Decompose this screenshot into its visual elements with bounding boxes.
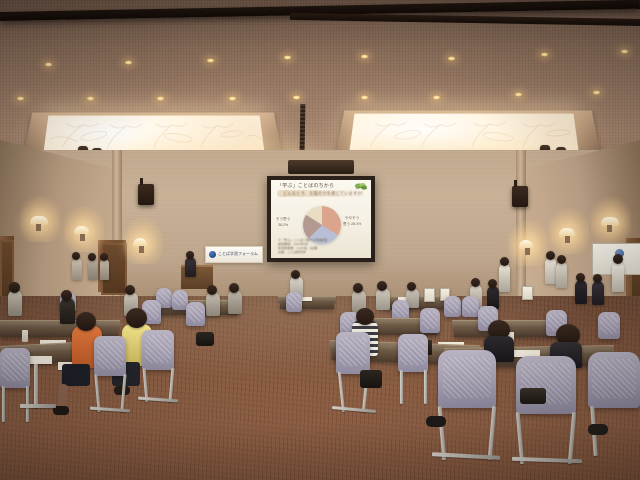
conference-chair[interactable] xyxy=(516,356,576,414)
table-number-card xyxy=(424,288,435,302)
person-head xyxy=(500,257,509,266)
person-head xyxy=(471,278,480,287)
conference-hall-photo: 「学ぶ」ことばのちから どんなとき、言葉の力を感じていますか？ そう思う 38.… xyxy=(0,0,640,480)
downlight-icon xyxy=(206,58,215,63)
conference-chair[interactable] xyxy=(438,350,496,408)
person-seated xyxy=(592,281,604,305)
person-head xyxy=(377,281,387,291)
person-head xyxy=(229,283,239,293)
chair-leg xyxy=(400,370,403,404)
chair-leg xyxy=(424,370,427,404)
banner-logo-icon xyxy=(209,251,216,258)
person-head xyxy=(291,270,300,279)
wall-sconce-left-3 xyxy=(133,232,148,249)
person-standing xyxy=(88,259,98,280)
downlight-icon xyxy=(432,95,441,100)
conference-chair xyxy=(598,312,620,339)
person-head xyxy=(356,308,374,325)
sconce-bracket xyxy=(36,224,41,231)
person-seated xyxy=(575,280,587,304)
table-leg xyxy=(34,364,38,408)
wall-speaker-right-icon xyxy=(512,186,528,207)
stage-banner: ことば学習フォーラム xyxy=(205,246,263,263)
shoe xyxy=(426,416,446,427)
person-head xyxy=(9,282,20,293)
presenter-body xyxy=(185,257,196,277)
conference-chair[interactable] xyxy=(0,348,30,388)
downlight-icon xyxy=(86,96,95,101)
wall-sconce-left-2 xyxy=(74,220,90,238)
bag xyxy=(520,388,546,404)
person-head xyxy=(353,283,363,293)
wall-speaker-left-icon xyxy=(138,184,154,205)
downlight-icon xyxy=(156,96,165,101)
chair-leg xyxy=(2,386,5,422)
wall-pilaster-right xyxy=(516,150,526,302)
sconce-bracket xyxy=(139,246,144,253)
person-seated xyxy=(60,298,75,324)
sconce-bracket xyxy=(565,236,570,243)
person-head xyxy=(593,274,602,283)
downlight-icon xyxy=(228,96,237,101)
sconce-bracket xyxy=(525,248,530,255)
slide-title: 「学ぶ」ことばのちから xyxy=(277,183,353,189)
person-head xyxy=(576,273,585,282)
table-number-card xyxy=(522,286,533,300)
screen-mount xyxy=(288,160,354,174)
person-head xyxy=(126,308,147,328)
downlight-icon xyxy=(16,96,25,101)
banner-text: ことば学習フォーラム xyxy=(218,251,258,257)
person-head xyxy=(207,285,217,295)
bag xyxy=(196,332,214,346)
person-standing xyxy=(556,262,567,288)
presentation-slide: 「学ぶ」ことばのちから どんなとき、言葉の力を感じていますか？ そう思う 38.… xyxy=(271,180,371,258)
conference-chair[interactable] xyxy=(94,336,126,376)
wall-sconce-right-2 xyxy=(559,222,576,241)
pie-label-left-top: そう思う xyxy=(276,217,290,221)
person-standing xyxy=(545,258,556,284)
person-head xyxy=(613,254,623,264)
conference-chair[interactable] xyxy=(588,352,640,408)
person-standing xyxy=(499,264,510,292)
ceiling-vent xyxy=(300,104,306,150)
person-head xyxy=(557,255,566,264)
person-head xyxy=(61,290,72,301)
shoe xyxy=(588,424,608,435)
person-standing xyxy=(72,258,82,280)
person-head xyxy=(546,251,555,260)
downlight-icon xyxy=(360,54,369,59)
light-panel-top-left xyxy=(44,116,265,153)
person-seated xyxy=(206,292,220,316)
person-head xyxy=(72,252,80,260)
person-head xyxy=(88,253,96,261)
person-shorts xyxy=(62,364,90,386)
wall-sconce-left-1 xyxy=(30,210,48,230)
downlight-icon xyxy=(360,95,369,100)
person-standing xyxy=(612,262,624,292)
downlight-icon xyxy=(44,62,53,67)
sconce-bracket xyxy=(80,234,85,241)
downlight-icon xyxy=(592,90,601,95)
person-head xyxy=(100,253,108,261)
conference-chair[interactable] xyxy=(398,334,428,372)
sconce-bracket xyxy=(607,225,612,232)
person-head xyxy=(125,285,135,295)
person-standing xyxy=(100,259,109,280)
pie-label-right-value: 思う 28.4% xyxy=(343,222,361,226)
bag xyxy=(360,370,382,388)
downlight-icon xyxy=(292,95,301,100)
conference-chair xyxy=(286,292,302,312)
downlight-icon xyxy=(283,55,292,60)
conference-chair[interactable] xyxy=(336,332,370,374)
person-head xyxy=(407,282,416,291)
conference-chair xyxy=(462,296,479,317)
person-seated xyxy=(376,288,390,310)
slide-subtitle: どんなとき、言葉の力を感じていますか？ xyxy=(283,191,363,196)
drink-cup xyxy=(22,330,28,342)
ceiling xyxy=(0,0,640,172)
pie-label-right-top: ややそう xyxy=(345,216,359,220)
person-seated xyxy=(8,290,22,316)
presenter-head xyxy=(186,251,194,259)
conference-chair[interactable] xyxy=(142,330,174,370)
person-head xyxy=(76,312,96,331)
conference-chair xyxy=(444,296,461,317)
downlight-icon xyxy=(124,60,133,65)
downlight-icon xyxy=(540,52,549,57)
conference-chair xyxy=(186,302,205,326)
floral-pattern-icon xyxy=(44,116,265,153)
table-leg xyxy=(20,404,56,408)
downlight-icon xyxy=(447,56,456,61)
slide-footnotes: ※「学ぶ」ことばに関する意識調査 調査期間：2014年6月 有効回答数：1,02… xyxy=(278,239,365,255)
wall-sconce-right-3 xyxy=(601,211,620,232)
projection-screen[interactable]: 「学ぶ」ことばのちから どんなとき、言葉の力を感じていますか？ そう思う 38.… xyxy=(267,176,375,262)
wall-sconce-right-1 xyxy=(519,234,534,251)
green-leaf-graphic-icon xyxy=(354,182,368,191)
slide-footnote: 出典：ことば研究所 xyxy=(278,251,365,255)
person-head xyxy=(488,279,497,288)
conference-chair xyxy=(420,308,440,333)
downlight-icon xyxy=(620,49,629,54)
person-seated xyxy=(228,290,242,314)
pie-label-left-value: 38.2% xyxy=(278,223,288,227)
downlight-icon xyxy=(514,92,523,97)
